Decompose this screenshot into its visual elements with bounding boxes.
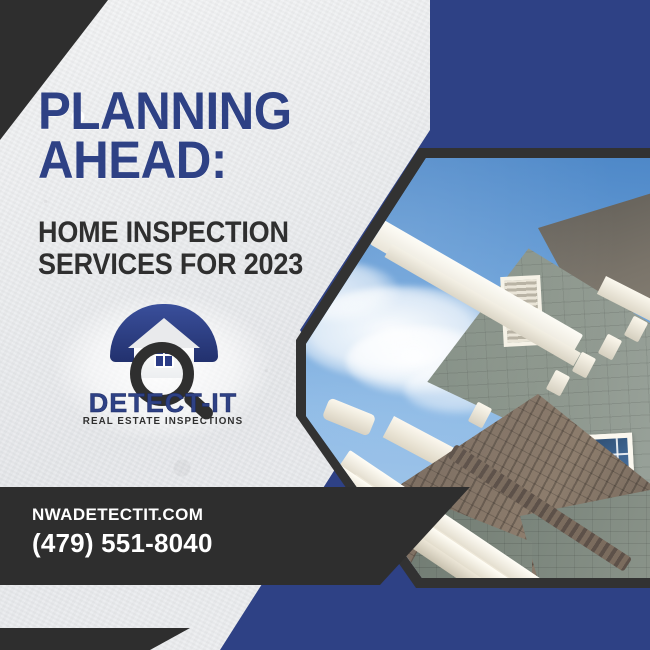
logo-tagline: REAL ESTATE INSPECTIONS	[70, 416, 256, 427]
contact-info: NWADETECTIT.COM (479) 551-8040	[32, 505, 332, 559]
website-link[interactable]: NWADETECTIT.COM	[32, 505, 332, 525]
logo-name: DETECT-IT	[68, 388, 258, 419]
phone-number[interactable]: (479) 551-8040	[32, 528, 332, 559]
subheadline-line-1: HOME INSPECTION	[38, 217, 308, 249]
subheadline: HOME INSPECTION SERVICES FOR 2023	[38, 217, 308, 280]
company-logo: DETECT-IT REAL ESTATE INSPECTIONS	[68, 300, 258, 435]
subheadline-line-2: SERVICES FOR 2023	[38, 249, 308, 281]
page-title: PLANNING AHEAD:	[38, 88, 308, 186]
poster-canvas: PLANNING AHEAD: HOME INSPECTION SERVICES…	[0, 0, 650, 650]
headline-line-2: AHEAD:	[38, 137, 308, 186]
logo-mark	[102, 304, 226, 386]
